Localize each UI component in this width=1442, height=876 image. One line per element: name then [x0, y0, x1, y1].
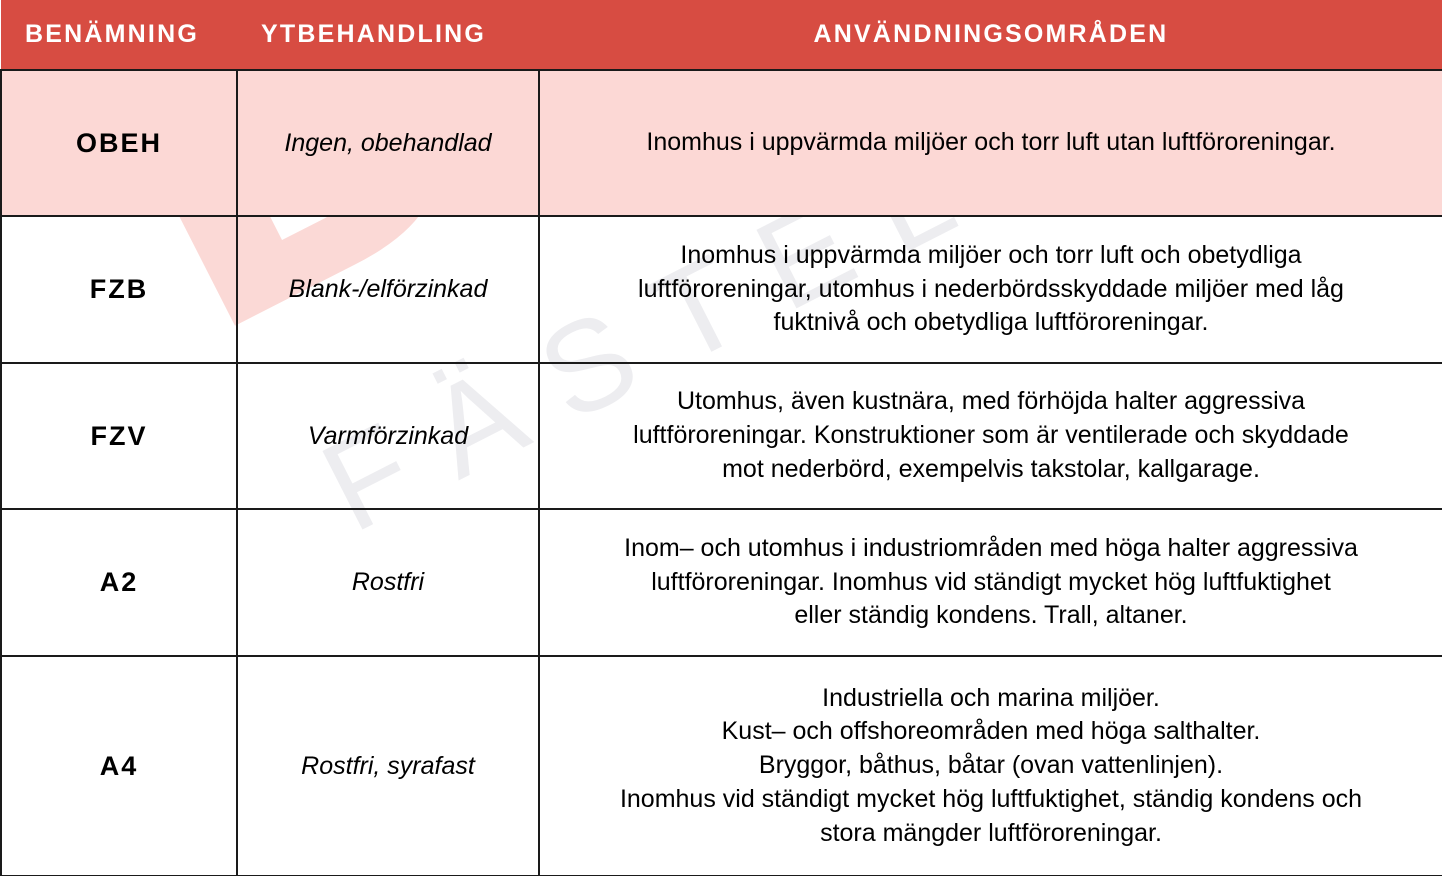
column-header-benamning: BENÄMNING [1, 0, 237, 70]
usage-line: Inom– och utomhus i industriområden med … [560, 532, 1422, 566]
surface-treatment-table: BENÄMNING YTBEHANDLING ANVÄNDNINGSOMRÅDE… [0, 0, 1442, 876]
cell-anvandningsomraden: Industriella och marina miljöer.Kust– oc… [539, 656, 1442, 876]
usage-line: fuktnivå och obetydliga luftföroreningar… [560, 306, 1422, 340]
usage-line: stora mängder luftföroreningar. [560, 817, 1422, 851]
cell-anvandningsomraden: Inom– och utomhus i industriområden med … [539, 509, 1442, 656]
cell-benamning: FZB [1, 216, 237, 363]
cell-ytbehandling: Rostfri, syrafast [237, 656, 539, 876]
usage-line: Utomhus, även kustnära, med förhöjda hal… [560, 385, 1422, 419]
table-row: FZVVarmförzinkadUtomhus, även kustnära, … [1, 363, 1442, 509]
usage-line: Inomhus i uppvärmda miljöer och torr luf… [560, 126, 1422, 160]
cell-ytbehandling: Varmförzinkad [237, 363, 539, 509]
cell-benamning: OBEH [1, 70, 237, 216]
cell-benamning: A4 [1, 656, 237, 876]
cell-ytbehandling: Blank-/elförzinkad [237, 216, 539, 363]
cell-ytbehandling: Rostfri [237, 509, 539, 656]
cell-ytbehandling: Ingen, obehandlad [237, 70, 539, 216]
cell-benamning: A2 [1, 509, 237, 656]
table-header: BENÄMNING YTBEHANDLING ANVÄNDNINGSOMRÅDE… [1, 0, 1442, 70]
usage-line: Inomhus i uppvärmda miljöer och torr luf… [560, 239, 1422, 273]
usage-line: Kust– och offshoreområden med höga salth… [560, 715, 1422, 749]
usage-line: Bryggor, båthus, båtar (ovan vattenlinje… [560, 749, 1422, 783]
usage-line: Industriella och marina miljöer. [560, 682, 1422, 716]
table-row: A4Rostfri, syrafastIndustriella och mari… [1, 656, 1442, 876]
usage-line: Inomhus vid ständigt mycket hög luftfukt… [560, 783, 1422, 817]
column-header-anvandningsomraden: ANVÄNDNINGSOMRÅDEN [539, 0, 1442, 70]
cell-benamning: FZV [1, 363, 237, 509]
usage-line: luftföroreningar, utomhus i nederbördssk… [560, 273, 1422, 307]
table-row: A2RostfriInom– och utomhus i industriomr… [1, 509, 1442, 656]
usage-line: luftföroreningar. Inomhus vid ständigt m… [560, 566, 1422, 600]
cell-anvandningsomraden: Inomhus i uppvärmda miljöer och torr luf… [539, 70, 1442, 216]
table-header-row: BENÄMNING YTBEHANDLING ANVÄNDNINGSOMRÅDE… [1, 0, 1442, 70]
usage-line: mot nederbörd, exempelvis takstolar, kal… [560, 453, 1422, 487]
usage-line: luftföroreningar. Konstruktioner som är … [560, 419, 1422, 453]
cell-anvandningsomraden: Inomhus i uppvärmda miljöer och torr luf… [539, 216, 1442, 363]
column-header-ytbehandling: YTBEHANDLING [237, 0, 539, 70]
table-row: OBEHIngen, obehandladInomhus i uppvärmda… [1, 70, 1442, 216]
table-row: FZBBlank-/elförzinkadInomhus i uppvärmda… [1, 216, 1442, 363]
table-body: OBEHIngen, obehandladInomhus i uppvärmda… [1, 70, 1442, 876]
cell-anvandningsomraden: Utomhus, även kustnära, med förhöjda hal… [539, 363, 1442, 509]
usage-line: eller ständig kondens. Trall, altaner. [560, 599, 1422, 633]
specification-table-page: BULTAB FÄSTELEMENT BENÄMNING YTBEHANDLIN… [0, 0, 1442, 876]
